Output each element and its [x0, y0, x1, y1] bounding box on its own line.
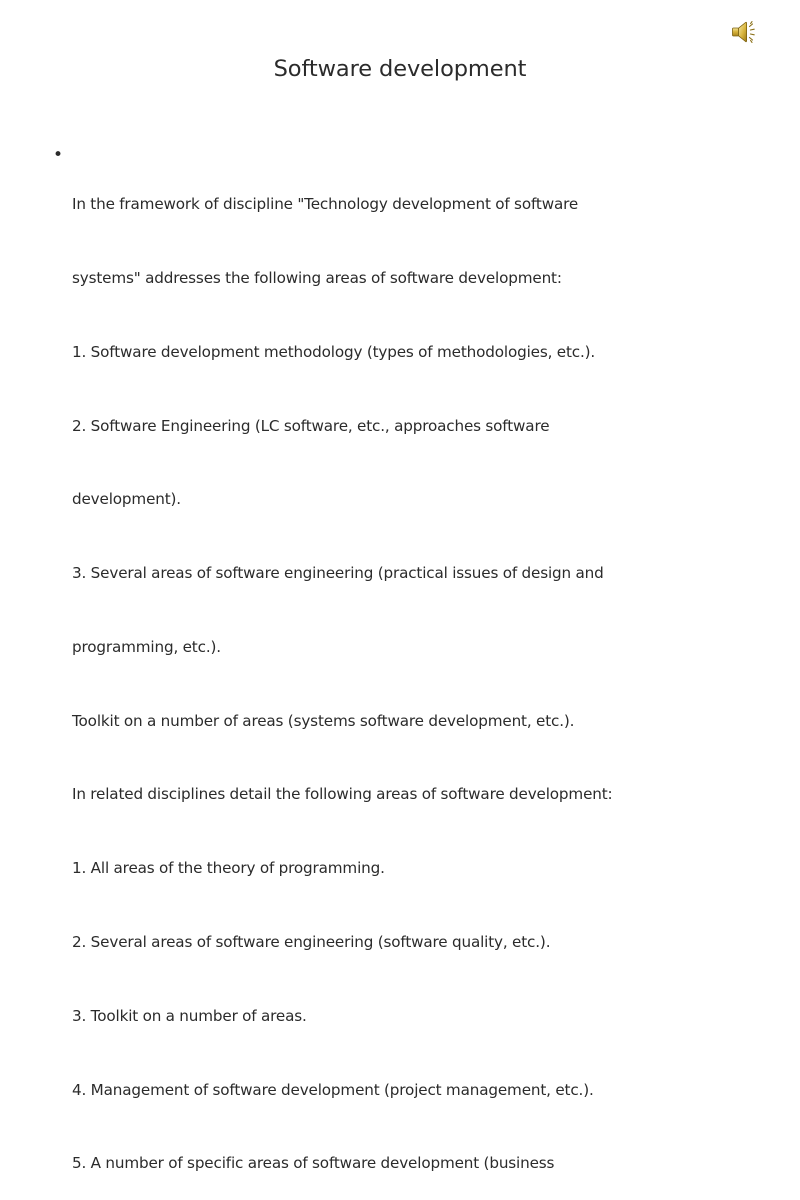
- page-title: Software development: [60, 56, 740, 82]
- text-line: In related disciplines detail the follow…: [72, 782, 756, 807]
- text-line: In the framework of discipline "Technolo…: [72, 192, 756, 217]
- speaker-icon[interactable]: [729, 17, 763, 47]
- text-line: programming, etc.).: [72, 635, 756, 660]
- presentation-slide: Software development • In the framework …: [0, 0, 800, 600]
- bullet-item: • In the framework of discipline "Techno…: [50, 143, 756, 1200]
- text-line: 2. Several areas of software engineering…: [72, 930, 756, 955]
- bullet-marker: •: [50, 143, 72, 168]
- text-line: development).: [72, 487, 756, 512]
- text-line: 1. All areas of the theory of programmin…: [72, 856, 756, 881]
- text-line: Toolkit on a number of areas (systems so…: [72, 709, 756, 734]
- text-line: 4. Management of software development (p…: [72, 1078, 756, 1103]
- content-placeholder: • In the framework of discipline "Techno…: [50, 143, 756, 1200]
- text-line: 5. A number of specific areas of softwar…: [72, 1151, 756, 1176]
- text-line: systems" addresses the following areas o…: [72, 266, 756, 291]
- text-line: 2. Software Engineering (LC software, et…: [72, 414, 756, 439]
- bullet-text: In the framework of discipline "Technolo…: [72, 143, 756, 1200]
- text-line: 3. Several areas of software engineering…: [72, 561, 756, 586]
- text-line: 3. Toolkit on a number of areas.: [72, 1004, 756, 1029]
- text-line: 1. Software development methodology (typ…: [72, 340, 756, 365]
